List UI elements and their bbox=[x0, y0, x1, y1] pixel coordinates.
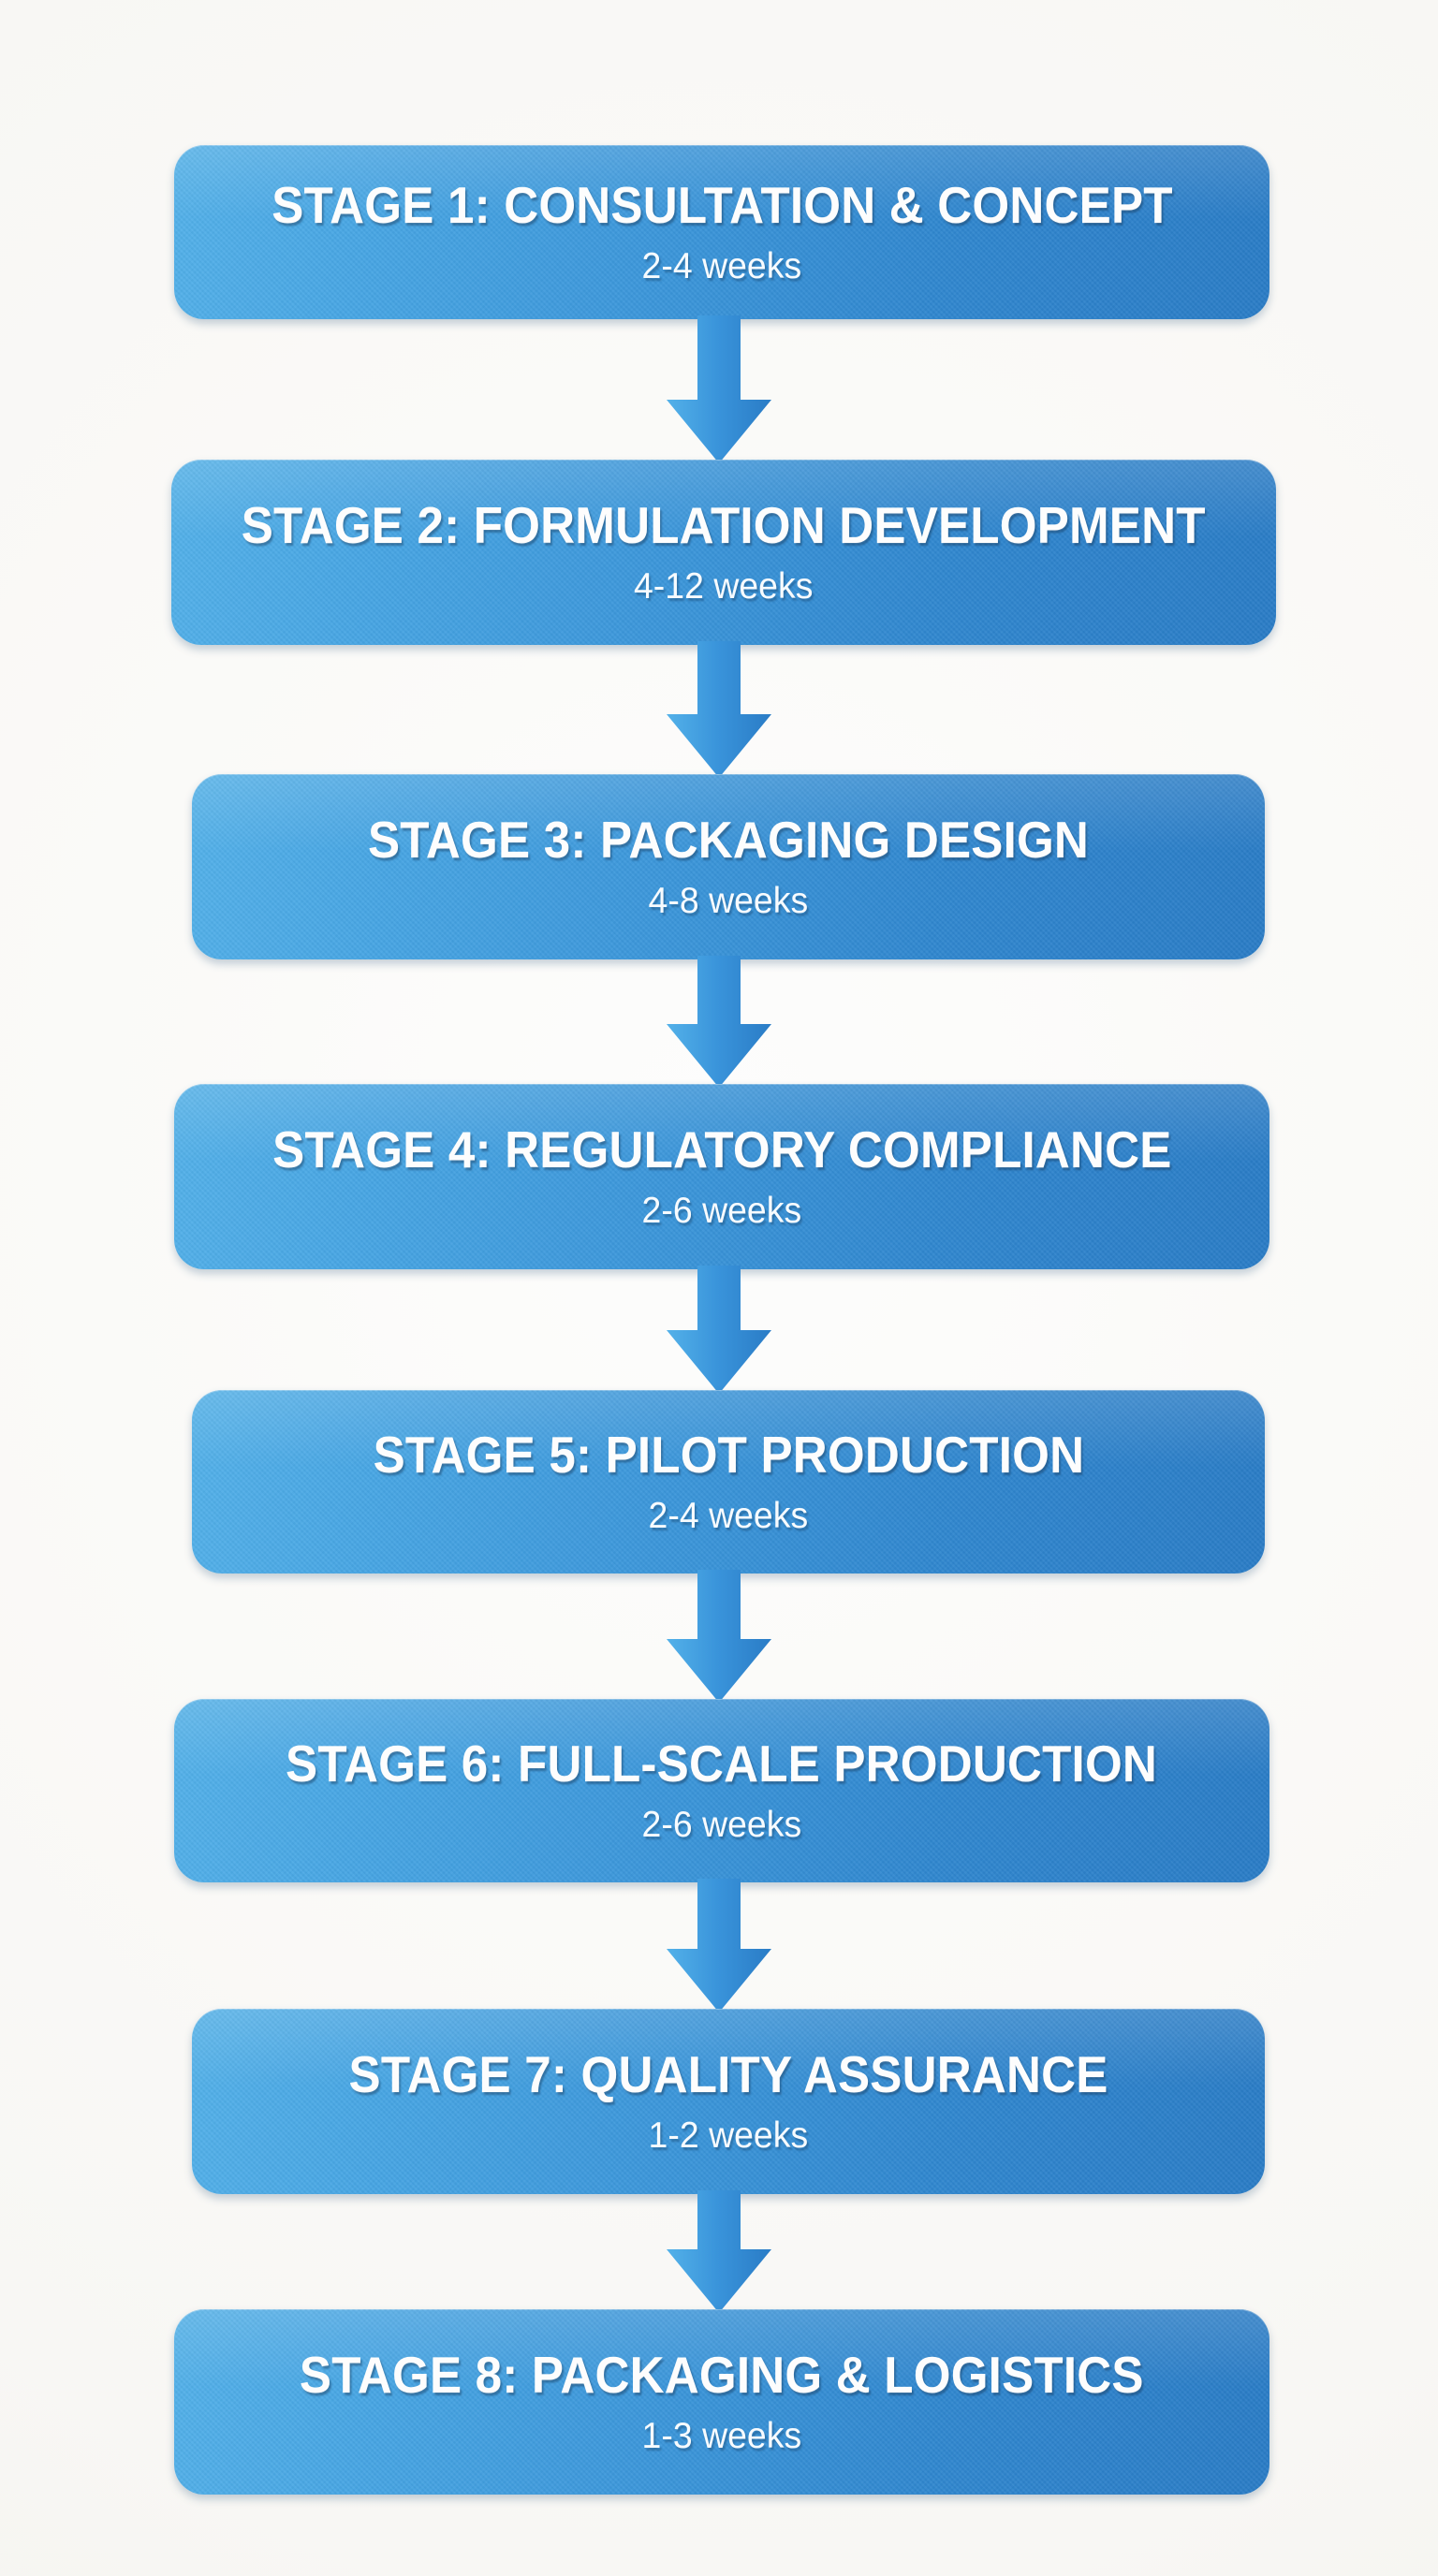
connector-arrow-6-to-7 bbox=[663, 1879, 775, 2012]
stage-title-7: STAGE 7: QUALITY ASSURANCE bbox=[348, 2049, 1108, 2100]
stage-node-3[interactable]: STAGE 3: PACKAGING DESIGN4-8 weeks bbox=[192, 774, 1265, 959]
stage-title-5: STAGE 5: PILOT PRODUCTION bbox=[373, 1429, 1084, 1481]
down-arrow-icon bbox=[667, 315, 771, 463]
stage-node-7[interactable]: STAGE 7: QUALITY ASSURANCE1-2 weeks bbox=[192, 2009, 1265, 2194]
down-arrow-icon bbox=[667, 641, 771, 778]
connector-arrow-7-to-8 bbox=[663, 2190, 775, 2313]
stage-title-4: STAGE 4: REGULATORY COMPLIANCE bbox=[272, 1124, 1171, 1176]
stage-duration-4: 2-6 weeks bbox=[642, 1193, 802, 1229]
stage-node-8[interactable]: STAGE 8: PACKAGING & LOGISTICS1-3 weeks bbox=[174, 2309, 1269, 2495]
connector-arrow-3-to-4 bbox=[663, 956, 775, 1088]
stage-title-8: STAGE 8: PACKAGING & LOGISTICS bbox=[300, 2349, 1144, 2401]
connector-arrow-5-to-6 bbox=[663, 1570, 775, 1703]
down-arrow-icon bbox=[667, 2190, 771, 2313]
stage-node-4[interactable]: STAGE 4: REGULATORY COMPLIANCE2-6 weeks bbox=[174, 1084, 1269, 1269]
stage-duration-2: 4-12 weeks bbox=[634, 568, 813, 605]
connector-arrow-4-to-5 bbox=[663, 1266, 775, 1394]
connector-arrow-1-to-2 bbox=[663, 315, 775, 463]
flowchart-canvas: STAGE 1: CONSULTATION & CONCEPT2-4 weeks… bbox=[0, 0, 1438, 2576]
stage-node-5[interactable]: STAGE 5: PILOT PRODUCTION2-4 weeks bbox=[192, 1390, 1265, 1573]
down-arrow-icon bbox=[667, 1570, 771, 1703]
stage-node-6[interactable]: STAGE 6: FULL-SCALE PRODUCTION2-6 weeks bbox=[174, 1699, 1269, 1882]
down-arrow-icon bbox=[667, 1266, 771, 1394]
stage-duration-5: 2-4 weeks bbox=[649, 1498, 809, 1534]
stage-node-2[interactable]: STAGE 2: FORMULATION DEVELOPMENT4-12 wee… bbox=[171, 460, 1276, 645]
stage-duration-7: 1-2 weeks bbox=[649, 2117, 809, 2154]
down-arrow-icon bbox=[667, 956, 771, 1088]
stage-title-3: STAGE 3: PACKAGING DESIGN bbox=[368, 814, 1089, 866]
stage-duration-3: 4-8 weeks bbox=[649, 883, 809, 919]
stage-title-2: STAGE 2: FORMULATION DEVELOPMENT bbox=[242, 500, 1206, 551]
stage-title-1: STAGE 1: CONSULTATION & CONCEPT bbox=[271, 180, 1172, 231]
stage-node-1[interactable]: STAGE 1: CONSULTATION & CONCEPT2-4 weeks bbox=[174, 145, 1269, 319]
stage-duration-8: 1-3 weeks bbox=[642, 2418, 802, 2454]
down-arrow-icon bbox=[667, 1879, 771, 2012]
connector-arrow-2-to-3 bbox=[663, 641, 775, 778]
stage-flow-diagram: STAGE 1: CONSULTATION & CONCEPT2-4 weeks… bbox=[0, 0, 1438, 2576]
stage-duration-1: 2-4 weeks bbox=[642, 248, 802, 285]
stage-duration-6: 2-6 weeks bbox=[642, 1807, 802, 1843]
stage-title-6: STAGE 6: FULL-SCALE PRODUCTION bbox=[286, 1738, 1157, 1790]
